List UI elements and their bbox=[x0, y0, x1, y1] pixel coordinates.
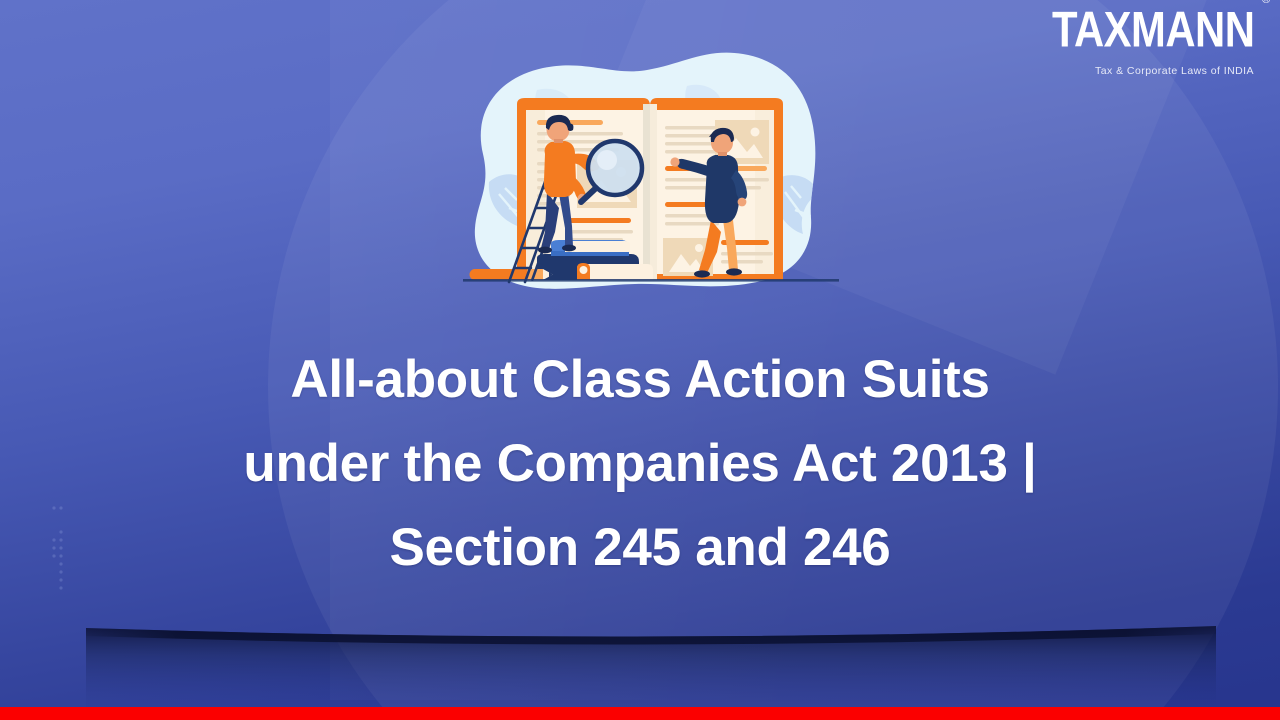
logo-wordmark-text: TAXMANN bbox=[1052, 1, 1254, 57]
hero-illustration bbox=[425, 42, 875, 314]
shelf-shadow-decoration bbox=[0, 600, 1280, 710]
ground-line bbox=[463, 279, 839, 282]
logo-tagline: Tax & Corporate Laws of INDIA bbox=[1056, 66, 1254, 77]
taxmann-logo: TAXMANN ® Tax & Corporate Laws of INDIA bbox=[1056, 14, 1254, 77]
page-title-line-1: All-about Class Action Suits bbox=[58, 338, 1222, 422]
page-title-line-2: under the Companies Act 2013 | bbox=[58, 422, 1222, 506]
logo-wordmark: TAXMANN ® bbox=[1052, 5, 1254, 55]
page-title: All-about Class Action Suits under the C… bbox=[0, 338, 1280, 590]
page-title-line-3: Section 245 and 246 bbox=[58, 506, 1222, 590]
banner-graphic: TAXMANN ® Tax & Corporate Laws of INDIA bbox=[0, 0, 1280, 720]
bottom-red-bar bbox=[0, 707, 1280, 720]
registered-trademark-icon: ® bbox=[1262, 0, 1270, 6]
